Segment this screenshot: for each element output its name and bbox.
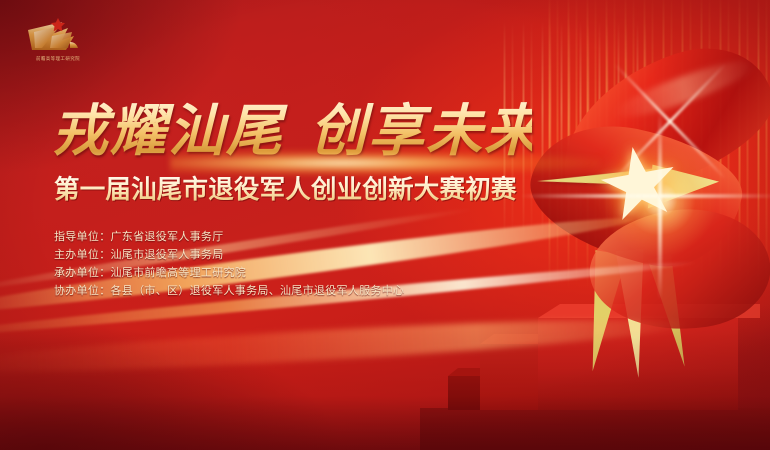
organizer-list: 指导单位：广东省退役军人事务厅 主办单位：汕尾市退役军人事务局 承办单位：汕尾市…	[54, 228, 484, 300]
poster-headline: 戎耀汕尾创享未来	[52, 96, 532, 168]
organizer-name: 广东省退役军人事务厅	[111, 231, 224, 243]
organizer-role: 主办单位：	[54, 249, 111, 261]
organizer-line: 指导单位：广东省退役军人事务厅	[54, 228, 484, 246]
organizer-line: 承办单位：汕尾市前瞻高等理工研究院	[54, 264, 484, 282]
organizer-line: 主办单位：汕尾市退役军人事务局	[54, 246, 484, 264]
eagle-star-emblem-icon	[22, 14, 94, 58]
organizer-role: 协办单位：	[54, 285, 111, 297]
organizer-name: 汕尾市前瞻高等理工研究院	[111, 267, 247, 279]
headline-part-one: 戎耀汕尾	[52, 101, 284, 163]
organizer-role: 指导单位：	[54, 231, 111, 243]
headline-part-two: 创享未来	[310, 101, 542, 163]
floor-shadow-gradient	[0, 330, 770, 450]
event-poster: ★	[0, 0, 770, 450]
organizer-name: 汕尾市退役军人事务局	[111, 249, 224, 261]
organizer-role: 承办单位：	[54, 267, 111, 279]
poster-subtitle: 第一届汕尾市退役军人创业创新大赛初赛	[54, 174, 524, 206]
organizer-name: 各县（市、区）退役军人事务局、汕尾市退役军人服务中心	[111, 285, 405, 297]
institute-logo[interactable]: 前瞻高等理工研究院	[22, 14, 94, 68]
organizer-line: 协办单位：各县（市、区）退役军人事务局、汕尾市退役军人服务中心	[54, 282, 484, 300]
logo-caption: 前瞻高等理工研究院	[22, 56, 94, 62]
